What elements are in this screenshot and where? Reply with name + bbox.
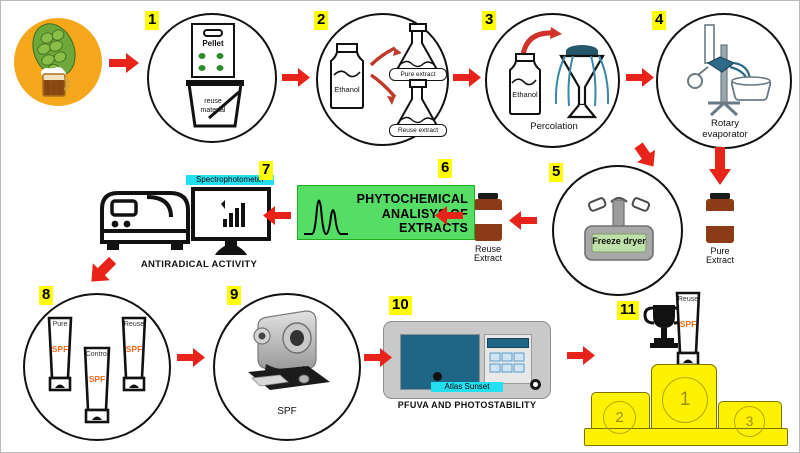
device-screen-dot	[433, 372, 442, 381]
winner-tube-spf: SPF	[673, 319, 703, 329]
ethanol-label-step3: Ethanol	[501, 91, 549, 99]
pure-extract-jar	[700, 193, 740, 250]
spectrophotometer-monitor	[191, 187, 271, 257]
step-badge-6: 6	[438, 159, 452, 178]
tube-control-name: Control	[81, 351, 113, 358]
tube-control-spf: SPF	[81, 374, 113, 384]
percolator-funnel	[551, 43, 613, 119]
arrow-step4-to-step5	[631, 141, 661, 171]
tube-pure-spf: SPF	[45, 344, 75, 354]
banner-line-1: PHYTOCHEMICAL	[357, 192, 468, 207]
step-7-caption: ANTIRADICAL ACTIVITY	[119, 259, 279, 270]
atlas-sunset-label: Atlas Sunset	[431, 382, 503, 392]
step-badge-5: 5	[549, 163, 563, 182]
freeze-dryer-label: Freeze dryer	[592, 236, 646, 246]
arrow-reuse-extract-to-step6	[435, 206, 463, 225]
step-badge-8: 8	[39, 286, 53, 305]
pellet-bag-handle	[203, 29, 223, 37]
tube-reuse-spf: SPF	[119, 344, 149, 354]
tube-reuse: Reuse SPF	[119, 316, 149, 392]
step-badge-9: 9	[227, 286, 241, 305]
split-arrows-step2	[369, 39, 401, 111]
arrow-step1-to-step2	[282, 68, 310, 87]
workflow-diagram: 1 Pellet reuse material 2 Ethanol Pure e…	[0, 0, 800, 453]
step-badge-7: 7	[259, 161, 273, 180]
arrow-step2-to-step3	[453, 68, 481, 87]
step-4-caption-line1: Rotary	[679, 118, 771, 129]
tube-reuse-name: Reuse	[119, 321, 149, 328]
podium-number-1: 1	[662, 377, 708, 423]
pellet-grains-icon	[194, 51, 232, 75]
step-10-caption: PFUVA AND PHOTOSTABILITY	[379, 400, 555, 411]
step-4-caption-line2: evaporator	[679, 129, 771, 140]
arrow-step3-to-step4	[626, 68, 654, 87]
pellet-label: Pellet	[191, 40, 235, 48]
device-knob[interactable]	[530, 379, 541, 390]
tube-pure: Pure SPF	[45, 316, 75, 392]
arrow-step7-to-step8	[85, 254, 119, 288]
arrow-step10-to-step11	[567, 346, 595, 365]
arrow-step8-to-step9	[177, 348, 205, 367]
pure-extract-jar-label-line2: Extract	[694, 255, 746, 266]
winner-tube-name: Reuse	[673, 296, 703, 303]
reuse-material-label-line1: reuse	[189, 98, 237, 106]
hop-and-beer-logo	[14, 18, 102, 106]
step-3-caption: Percolation	[509, 121, 599, 132]
winner-tube: Reuse SPF	[673, 291, 703, 367]
arrow-step4-down	[709, 147, 731, 185]
step-badge-10: 10	[389, 296, 412, 315]
step-badge-11: 11	[617, 301, 639, 320]
step-badge-1: 1	[145, 11, 159, 30]
chromatogram-peaks-icon	[303, 192, 349, 236]
spf-analyzer-icon	[236, 306, 340, 398]
spectrophotometer-icon	[99, 187, 193, 253]
podium-number-3: 3	[734, 406, 765, 437]
step-badge-4: 4	[652, 11, 666, 30]
device-keypad-icon	[489, 352, 525, 374]
step-badge-2: 2	[314, 11, 328, 30]
reuse-material-label-line2: material	[189, 107, 237, 115]
reuse-extract-jar-label-line2: Extract	[463, 253, 513, 264]
arrow-step5-to-reuse-extract	[509, 211, 537, 230]
rotary-evaporator-icon	[678, 23, 774, 119]
step-badge-3: 3	[482, 11, 496, 30]
step-9-caption: SPF	[247, 406, 327, 417]
podium-number-2: 2	[603, 401, 636, 434]
ethanol-bottle-step3	[501, 53, 549, 115]
tube-control: Control SPF	[81, 346, 113, 424]
device-panel-bar	[487, 338, 529, 348]
ethanol-bottle-step2	[321, 43, 373, 109]
reuse-extract-flask-label: Reuse extract	[389, 124, 447, 137]
freeze-dryer-icon	[581, 186, 657, 264]
tube-pure-name: Pure	[45, 321, 75, 328]
arrow-step6-to-step7	[263, 206, 291, 225]
arrow-logo-to-step1	[109, 53, 139, 73]
arrow-step9-to-step10	[364, 348, 392, 367]
ethanol-label-step2: Ethanol	[321, 86, 373, 94]
